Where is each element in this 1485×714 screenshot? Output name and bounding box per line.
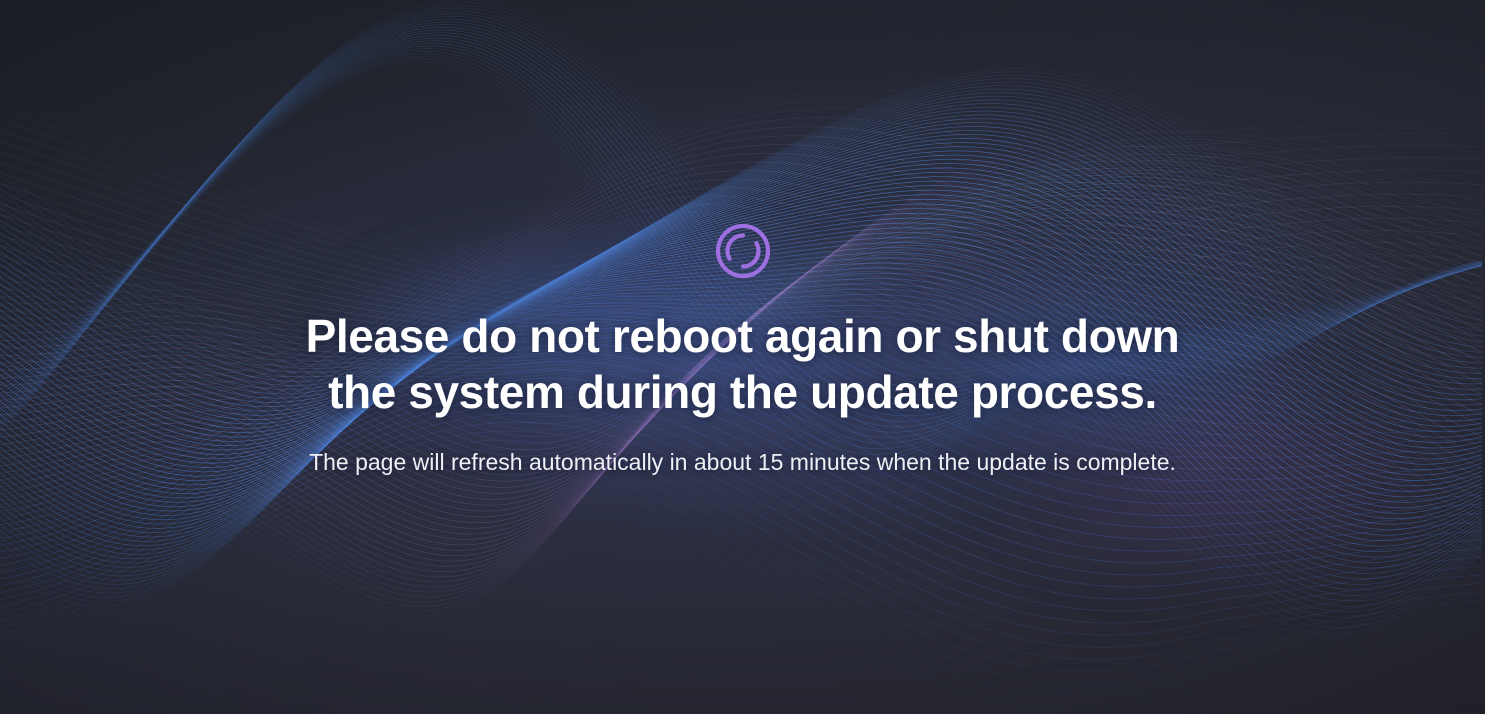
page-title: Please do not reboot again or shut down …	[306, 308, 1180, 420]
update-message-container: Please do not reboot again or shut down …	[0, 0, 1485, 714]
subtext-line-2: complete.	[1076, 449, 1176, 475]
update-in-progress-screen: Please do not reboot again or shut down …	[0, 0, 1485, 714]
subtext-line-1: The page will refresh automatically in a…	[309, 449, 1070, 475]
headline-line-1: Please do not reboot again or shut down	[306, 308, 1180, 364]
loading-spinner-icon	[714, 222, 772, 280]
headline-line-2: the system during the update process.	[306, 364, 1180, 420]
refresh-notice: The page will refresh automatically in a…	[309, 444, 1176, 480]
